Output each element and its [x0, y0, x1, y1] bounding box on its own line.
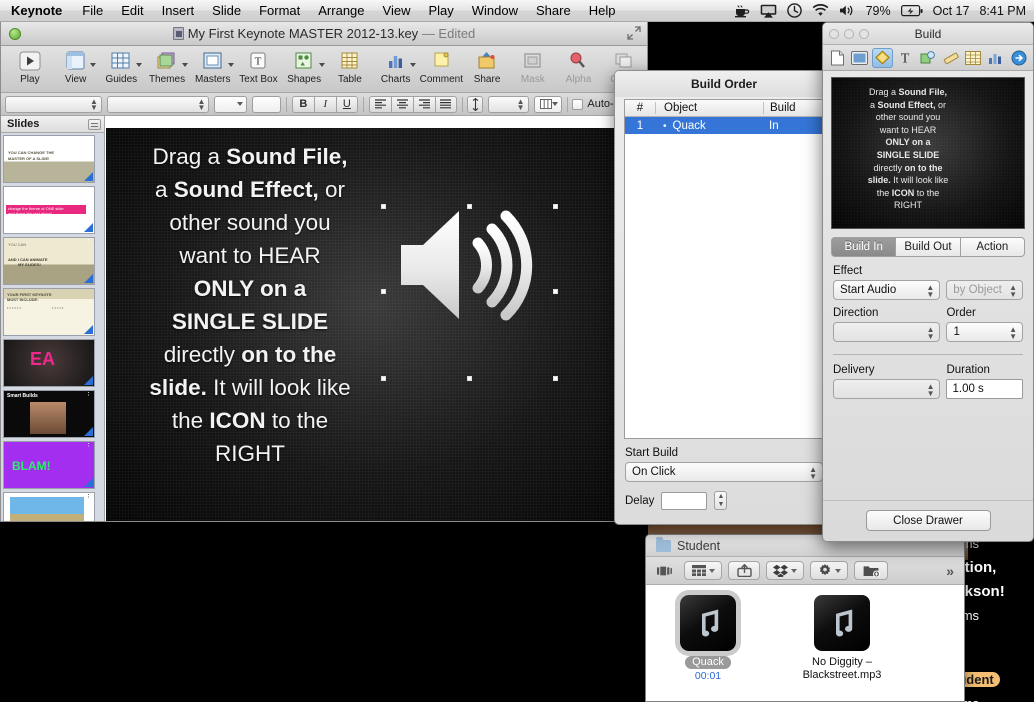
toolbar-button-comment[interactable]: Comment [418, 49, 464, 85]
file-duration: 00:01 [695, 670, 721, 682]
inspector-title: Build [915, 27, 942, 41]
graphic-icon[interactable] [918, 48, 939, 68]
direction-select[interactable]: ▲▼ [833, 322, 940, 342]
chevron-down-icon[interactable] [237, 102, 243, 106]
font-style-combo[interactable]: ▲▼ [107, 96, 209, 113]
inspector-slide-preview: Drag a Sound File,a Sound Effect, orothe… [831, 77, 1025, 229]
chevron-down-icon[interactable] [228, 63, 234, 67]
chevron-down-icon[interactable] [136, 63, 142, 67]
chevron-down-icon[interactable] [835, 569, 841, 573]
toolbar-button-guides[interactable]: Guides [98, 49, 144, 85]
menu-item-edit[interactable]: Edit [112, 3, 152, 18]
menu-item-help[interactable]: Help [580, 3, 625, 18]
text-line: the ICON to the [838, 187, 978, 200]
chevron-down-icon[interactable] [791, 569, 797, 573]
textbox-icon: T [246, 49, 270, 73]
text-line: directly on to the [838, 162, 978, 175]
build-dots-icon: ⋮ [85, 444, 92, 446]
menu-item-format[interactable]: Format [250, 3, 309, 18]
slide-canvas[interactable]: Drag a Sound File,a Sound Effect, orothe… [106, 128, 642, 522]
window-controls[interactable] [829, 29, 869, 39]
line-spacing-combo[interactable]: ▲▼ [488, 96, 529, 113]
icon-view-button[interactable] [684, 561, 722, 580]
delay-label: Delay [625, 495, 654, 507]
menu-app-name[interactable]: Keynote [0, 3, 73, 18]
build-indicator [84, 274, 93, 283]
music-note-icon[interactable] [680, 595, 736, 651]
toolbar-label: Play [20, 74, 39, 85]
build-indicator [84, 478, 93, 487]
menubar-time: 8:41 PM [979, 4, 1026, 18]
masters-icon [201, 49, 225, 73]
slide-icon[interactable] [850, 48, 871, 68]
selection-handle[interactable] [381, 376, 386, 381]
window-zoom-button[interactable] [9, 28, 21, 40]
by-object-value: by Object [953, 284, 1002, 296]
hyperlink-icon[interactable] [1008, 48, 1029, 68]
dropbox-button[interactable] [766, 561, 804, 580]
selection-handle[interactable] [553, 376, 558, 381]
stepper-icon[interactable]: ▲▼ [927, 383, 935, 397]
chevron-down-icon[interactable] [410, 63, 416, 67]
toolbar-button-charts[interactable]: Charts [373, 49, 419, 85]
music-note-icon[interactable] [814, 595, 870, 651]
text-line: slide. It will look like [116, 371, 384, 404]
document-icon [173, 27, 184, 40]
effect-select[interactable]: Start Audio ▲▼ [833, 280, 940, 300]
build-order-controls[interactable]: Start Build On Click ▲▼ Delay ▲▼ [615, 439, 833, 510]
row-build: In [763, 120, 823, 132]
navigator-resize-handle[interactable] [88, 119, 101, 130]
build-indicator [84, 427, 93, 436]
chart-icon[interactable] [986, 48, 1007, 68]
delivery-select[interactable]: ▲▼ [833, 379, 940, 399]
macos-menu-bar: Keynote File Edit Insert Slide Format Ar… [0, 0, 1034, 22]
stepper-icon[interactable]: ▲▼ [197, 99, 205, 111]
cover-flow-icon[interactable] [652, 561, 678, 580]
divider [567, 97, 568, 112]
toolbar-button-themes[interactable]: Themes [144, 49, 190, 85]
menu-item-share[interactable]: Share [527, 3, 580, 18]
stepper-icon[interactable]: ▲▼ [517, 99, 525, 111]
toolbar-label: Themes [149, 74, 185, 85]
build-dots-icon: ⋮ [85, 495, 92, 497]
row-number: 1 [625, 120, 655, 132]
slide-text-block[interactable]: Drag a Sound File,a Sound Effect, orothe… [116, 140, 384, 470]
by-object-select[interactable]: by Object ▲▼ [946, 280, 1023, 300]
toolbar-button-table[interactable]: Table [327, 49, 373, 85]
file-name[interactable]: Quack [685, 656, 731, 669]
build-dots-icon: ⋮ [85, 393, 92, 395]
align-justify-icon[interactable] [435, 96, 457, 113]
document-icon[interactable] [827, 48, 848, 68]
keynote-titlebar[interactable]: My First Keynote MASTER 2012-13.key — Ed… [1, 22, 647, 46]
keynote-title: My First Keynote MASTER 2012-13.key — Ed… [1, 26, 647, 41]
selection-handle[interactable] [467, 376, 472, 381]
text-line: Drag a Sound File, [116, 140, 384, 173]
fill-color-swatch[interactable] [252, 96, 282, 113]
toolbar-button-share[interactable]: Share [464, 49, 510, 85]
toolbar-label: Charts [381, 74, 410, 85]
tab-build-out[interactable]: Build Out [895, 237, 959, 257]
divider [833, 354, 1023, 355]
keynote-edited-state: — Edited [422, 26, 475, 41]
inspector-toolbar[interactable]: T [823, 45, 1033, 71]
volume-icon[interactable] [839, 4, 856, 17]
menu-item-file[interactable]: File [73, 3, 112, 18]
slide-thumbnail[interactable]: change the theme of ONE slide and leave … [3, 186, 95, 234]
delay-input[interactable] [661, 492, 707, 510]
checkbox-box[interactable] [572, 99, 583, 110]
build-order-row[interactable]: 1 •Quack In [625, 117, 823, 134]
build-indicator [84, 376, 93, 385]
chevron-down-icon[interactable] [319, 63, 325, 67]
inspector-titlebar: Build [823, 23, 1033, 45]
columns-icon[interactable] [534, 96, 562, 113]
column-header-object[interactable]: Object [655, 102, 763, 114]
text-line: ONLY on a [838, 136, 978, 149]
themes-icon [155, 49, 179, 73]
direction-label: Direction [833, 307, 940, 319]
selection-handle[interactable] [381, 204, 386, 209]
finder-window[interactable]: Student » Quack 00:01 [645, 534, 965, 702]
bullet-icon: • [663, 121, 667, 132]
menu-item-insert[interactable]: Insert [153, 3, 204, 18]
battery-percent: 79% [866, 4, 891, 18]
inspector-preview-text: Drag a Sound File,a Sound Effect, orothe… [838, 86, 978, 212]
share-button[interactable] [728, 561, 760, 580]
toolbar-label: Table [338, 74, 362, 85]
build-dots-icon: ⋮ [85, 240, 92, 242]
text-line: the ICON to the [116, 404, 384, 437]
menu-item-window[interactable]: Window [463, 3, 527, 18]
keynote-window: My First Keynote MASTER 2012-13.key — Ed… [0, 22, 648, 522]
navigator-header: Slides [1, 116, 104, 133]
delivery-label: Delivery [833, 364, 940, 376]
file-item[interactable]: Quack 00:01 [668, 595, 748, 702]
text-line: a Sound Effect, or [838, 99, 978, 112]
chevron-down-icon[interactable] [182, 63, 188, 67]
slide-thumbnail[interactable]: YOU CAN CHANGE THE MASTER OF A SLIDE! [3, 135, 95, 183]
slide-thumbnail-list[interactable]: YOU CAN CHANGE THE MASTER OF A SLIDE! ch… [1, 133, 104, 522]
menu-item-slide[interactable]: Slide [203, 3, 250, 18]
divider [823, 500, 1033, 501]
file-item[interactable]: No Diggity – Blackstreet.mp3 [802, 595, 882, 702]
text-line: Drag a Sound File, [838, 86, 978, 99]
coffee-cup-icon[interactable] [734, 4, 750, 18]
line-spacing-icon[interactable] [467, 96, 483, 113]
mask-icon [521, 49, 545, 73]
text-line: SINGLE SLIDE [838, 149, 978, 162]
table-icon[interactable] [963, 48, 984, 68]
navigator-title: Slides [7, 118, 39, 130]
text-line: SINGLE SLIDE [116, 305, 384, 338]
chevron-down-icon[interactable] [90, 63, 96, 67]
bold-button[interactable]: B [292, 96, 314, 113]
order-value: 1 [953, 326, 959, 338]
text-line: want to HEAR [116, 239, 384, 272]
build-order-header-row: # Object Build [625, 100, 823, 117]
alpha-icon [566, 49, 590, 73]
stepper-icon[interactable]: ▲▼ [1009, 284, 1017, 298]
toolbar-label: Alpha [566, 74, 592, 85]
divider [462, 97, 463, 112]
comment-icon [429, 49, 453, 73]
toolbar-button-play[interactable]: Play [7, 49, 53, 85]
battery-icon[interactable] [901, 5, 923, 17]
effect-label: Effect [833, 265, 1023, 277]
column-header-build[interactable]: Build [763, 102, 823, 114]
text-align-group[interactable] [369, 96, 457, 113]
folder-icon [656, 540, 671, 552]
shapes-icon [292, 49, 316, 73]
delay-row[interactable]: Delay ▲▼ [625, 491, 823, 510]
inspector-build-in-panel[interactable]: Effect Start Audio ▲▼ by Object ▲▼ Direc… [823, 257, 1033, 399]
stepper-icon[interactable]: ▲▼ [90, 99, 98, 111]
delay-stepper[interactable]: ▲▼ [714, 491, 727, 510]
build-inspector-window[interactable]: Build T Drag a Sound File,a Sound Effect… [822, 22, 1034, 542]
new-folder-button[interactable] [854, 561, 888, 580]
duration-label: Duration [946, 364, 1023, 376]
selection-handle[interactable] [467, 204, 472, 209]
menu-item-view[interactable]: View [374, 3, 420, 18]
chevron-down-icon[interactable] [709, 569, 715, 573]
slide-thumbnail[interactable]: ⋮ [3, 492, 95, 522]
menu-item-play[interactable]: Play [419, 3, 462, 18]
slide-thumbnail[interactable]: YOU CAN AND I CAN ANIMATE MY SLIDES! ⋮ [3, 237, 95, 285]
text-line: slide. It will look like [838, 174, 978, 187]
toolbar-button-alpha: Alpha [556, 49, 602, 85]
toolbar-label: View [65, 74, 87, 85]
toolbar-button-mask: Mask [510, 49, 556, 85]
svg-text:T: T [255, 56, 262, 68]
keynote-toolbar[interactable]: Play View Guides Themes [1, 46, 647, 93]
build-indicator [84, 325, 93, 334]
close-button[interactable] [829, 29, 839, 39]
zoom-button[interactable] [859, 29, 869, 39]
row-object-label: Quack [673, 120, 706, 132]
finder-toolbar[interactable]: » [646, 557, 964, 585]
slide-navigator[interactable]: Slides YOU CAN CHANGE THE MASTER OF A SL… [1, 116, 105, 522]
align-left-icon[interactable] [369, 96, 391, 113]
build-indicator [84, 223, 93, 232]
speaker-audio-icon[interactable] [396, 193, 546, 338]
minimize-button[interactable] [844, 29, 854, 39]
toolbar-button-view[interactable]: View [53, 49, 99, 85]
start-build-value: On Click [632, 466, 675, 478]
svg-text:T: T [901, 52, 910, 66]
toolbar-label: Guides [105, 74, 137, 85]
order-select[interactable]: 1 ▲▼ [946, 322, 1023, 342]
stepper-icon[interactable]: ▲▼ [1009, 326, 1017, 340]
toolbar-button-shapes[interactable]: Shapes [281, 49, 327, 85]
close-drawer-button[interactable]: Close Drawer [866, 510, 991, 531]
toolbar-button-textbox[interactable]: T Text Box [236, 49, 282, 85]
text-line: a Sound Effect, or [116, 173, 384, 206]
align-center-icon[interactable] [391, 96, 413, 113]
gear-button[interactable] [810, 561, 848, 580]
row-object: •Quack [655, 120, 763, 132]
keynote-document-name: My First Keynote MASTER 2012-13.key [188, 26, 418, 41]
selection-handle[interactable] [381, 289, 386, 294]
toolbar-label: Masters [195, 74, 231, 85]
keynote-format-bar[interactable]: ▲▼ ▲▼ B I U ▲▼ Auto-shrink [1, 93, 647, 116]
selection-handle[interactable] [553, 204, 558, 209]
slide-thumbnail[interactable]: EA [3, 339, 95, 387]
view-icon [64, 49, 88, 73]
text-icon[interactable]: T [895, 48, 916, 68]
share-icon [475, 49, 499, 73]
inspector-tabs[interactable]: Build In Build Out Action [831, 237, 1025, 257]
fullscreen-icon[interactable] [627, 26, 641, 40]
build-indicator [84, 172, 93, 181]
file-name[interactable]: No Diggity – Blackstreet.mp3 [802, 656, 882, 682]
finder-file-grid[interactable]: Quack 00:01 No Diggity – Blackstreet.mp3 [646, 585, 964, 702]
slide-canvas-area[interactable]: Drag a Sound File,a Sound Effect, orothe… [105, 116, 647, 522]
stepper-icon[interactable]: ▲▼ [809, 466, 817, 480]
slide-thumbnail[interactable]: Smart Builds ⋮ [3, 390, 95, 438]
text-line: RIGHT [838, 199, 978, 212]
start-build-select[interactable]: On Click ▲▼ [625, 462, 823, 482]
guides-icon [109, 49, 133, 73]
toolbar-button-masters[interactable]: Masters [190, 49, 236, 85]
stepper-icon[interactable]: ▲▼ [926, 284, 934, 298]
duration-input[interactable]: 1.00 s [946, 379, 1023, 399]
tab-action[interactable]: Action [960, 237, 1025, 257]
align-right-icon[interactable] [413, 96, 435, 113]
start-build-label: Start Build [625, 447, 823, 459]
build-order-table[interactable]: # Object Build 1 •Quack In [624, 99, 824, 439]
time-machine-icon[interactable] [787, 3, 802, 18]
build-order-window[interactable]: Build Order # Object Build 1 •Quack In S… [614, 70, 834, 525]
airplay-icon[interactable] [760, 4, 777, 18]
divider [363, 97, 364, 112]
italic-button[interactable]: I [314, 96, 336, 113]
text-line: directly on to the [116, 338, 384, 371]
toolbar-label: Mask [521, 74, 545, 85]
wifi-icon[interactable] [812, 4, 829, 17]
text-color-swatch[interactable] [214, 96, 246, 113]
column-header-number[interactable]: # [625, 102, 655, 114]
menubar-date: Oct 17 [933, 4, 970, 18]
toolbar-label: Text Box [239, 74, 277, 85]
chevron-down-icon[interactable] [552, 102, 558, 106]
toolbar-label: Comment [420, 74, 463, 85]
slide-thumbnail[interactable]: YOUR FIRST KEYNOTE MUST INCLUDE: • • • •… [3, 288, 95, 336]
selection-handle[interactable] [553, 289, 558, 294]
effect-value: Start Audio [840, 284, 896, 296]
build-order-title: Build Order [615, 71, 833, 97]
charts-icon [384, 49, 408, 73]
finder-title: Student [677, 539, 720, 553]
toolbar-label: Shapes [287, 74, 321, 85]
order-label: Order [946, 307, 1023, 319]
tab-build-in[interactable]: Build In [831, 237, 895, 257]
chevron-double-right-icon[interactable]: » [946, 563, 958, 579]
slide-thumbnail[interactable]: BLAM! ⋮ [3, 441, 95, 489]
stepper-icon[interactable]: ▲▼ [927, 326, 935, 340]
table-icon [338, 49, 362, 73]
keynote-body: Slides YOU CAN CHANGE THE MASTER OF A SL… [1, 116, 647, 522]
text-line: other sound you [838, 111, 978, 124]
text-line: other sound you [116, 206, 384, 239]
underline-button[interactable]: U [336, 96, 358, 113]
metrics-icon[interactable] [940, 48, 961, 68]
font-family-combo[interactable]: ▲▼ [5, 96, 102, 113]
text-line: RIGHT [116, 437, 384, 470]
menu-item-arrange[interactable]: Arrange [309, 3, 373, 18]
divider [286, 97, 287, 112]
text-style-group[interactable]: B I U [292, 96, 358, 113]
text-line: want to HEAR [838, 124, 978, 137]
toolbar-label: Share [474, 74, 501, 85]
play-icon [17, 49, 43, 73]
build-icon[interactable] [872, 48, 893, 68]
text-line: ONLY on a [116, 272, 384, 305]
